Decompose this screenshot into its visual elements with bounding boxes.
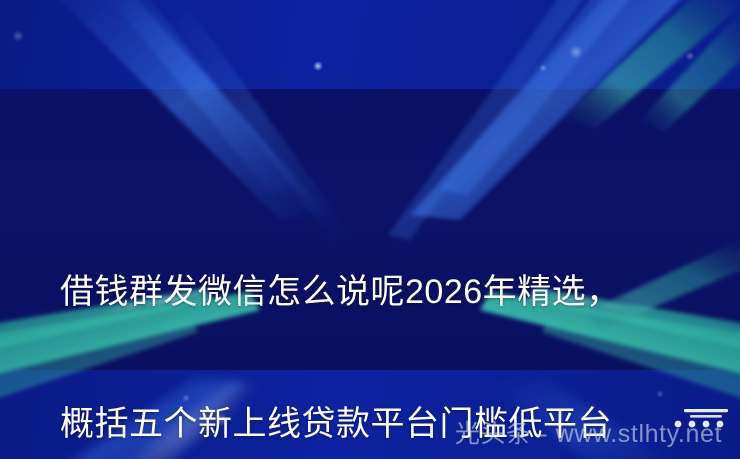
headline-line-1: 借钱群发微信怎么说呢2026年精选，: [60, 270, 710, 314]
watermark-text: 光头条 - www.stlhty.net: [455, 419, 722, 449]
background-band-top: [0, 0, 740, 89]
headline-text: 借钱群发微信怎么说呢2026年精选， 概括五个新上线贷款平台门槛低平台: [60, 182, 710, 459]
banner-image: 借钱群发微信怎么说呢2026年精选， 概括五个新上线贷款平台门槛低平台 光头条 …: [0, 0, 740, 459]
